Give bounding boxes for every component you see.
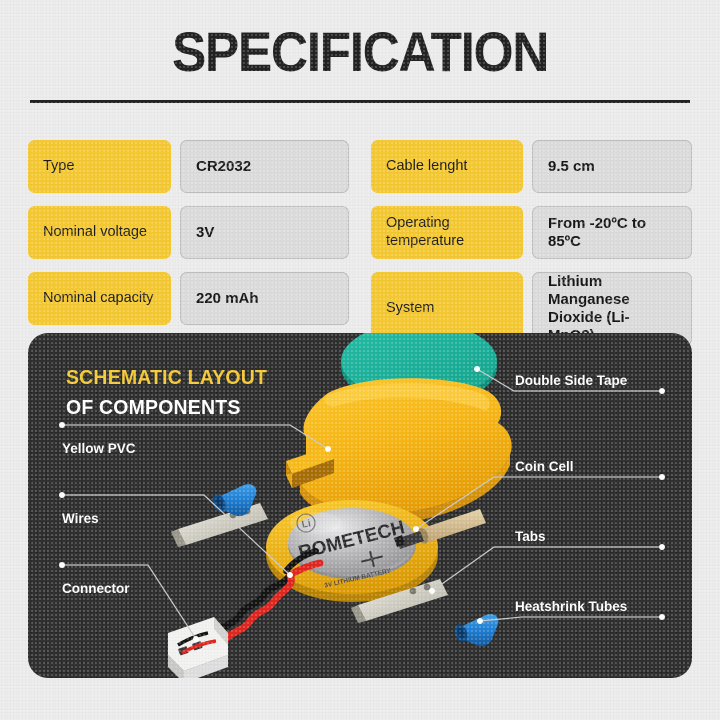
page-title: SPECIFICATION [29,24,691,80]
spec-value: 220 mAh [180,272,349,325]
spec-label: Cable lenght [371,140,523,193]
callout-label-double-side-tape: Double Side Tape [515,373,627,388]
title-divider [30,100,690,103]
callout-label-coin-cell: Coin Cell [515,459,574,474]
yellow-pvc-art [286,378,512,523]
callout-label-tabs: Tabs [515,529,546,544]
specification-table: Type CR2032 Nominal voltage 3V Nominal c… [28,140,692,346]
spec-row: Nominal voltage 3V [28,206,349,259]
spec-column-left: Type CR2032 Nominal voltage 3V Nominal c… [28,140,349,346]
spec-label: Type [28,140,171,193]
spec-value: From -20ºC to 85ºC [532,206,692,259]
spec-label: Nominal voltage [28,206,171,259]
spec-label: Operating temperature [371,206,523,259]
spec-column-right: Cable lenght 9.5 cm Operating temperatur… [371,140,692,346]
spec-row: Type CR2032 [28,140,349,193]
heatshrink-blue-lower-art [452,614,498,646]
spec-value: 9.5 cm [532,140,692,193]
callout-label-connector: Connector [62,581,130,596]
connector-art [168,617,228,678]
schematic-panel: SCHEMATIC LAYOUT OF COMPONENTS [28,333,692,678]
callout-label-heatshrink-tubes: Heatshrink Tubes [515,599,627,614]
spec-value: 3V [180,206,349,259]
spec-label: Nominal capacity [28,272,171,325]
spec-row: Nominal capacity 220 mAh [28,272,349,325]
callout-label-wires: Wires [62,511,99,526]
spec-row: Cable lenght 9.5 cm [371,140,692,193]
spec-row: Operating temperature From -20ºC to 85ºC [371,206,692,259]
callout-label-yellow-pvc: Yellow PVC [62,441,136,456]
specification-sheet: SPECIFICATION Type CR2032 Nominal voltag… [0,0,720,720]
spec-value: CR2032 [180,140,349,193]
